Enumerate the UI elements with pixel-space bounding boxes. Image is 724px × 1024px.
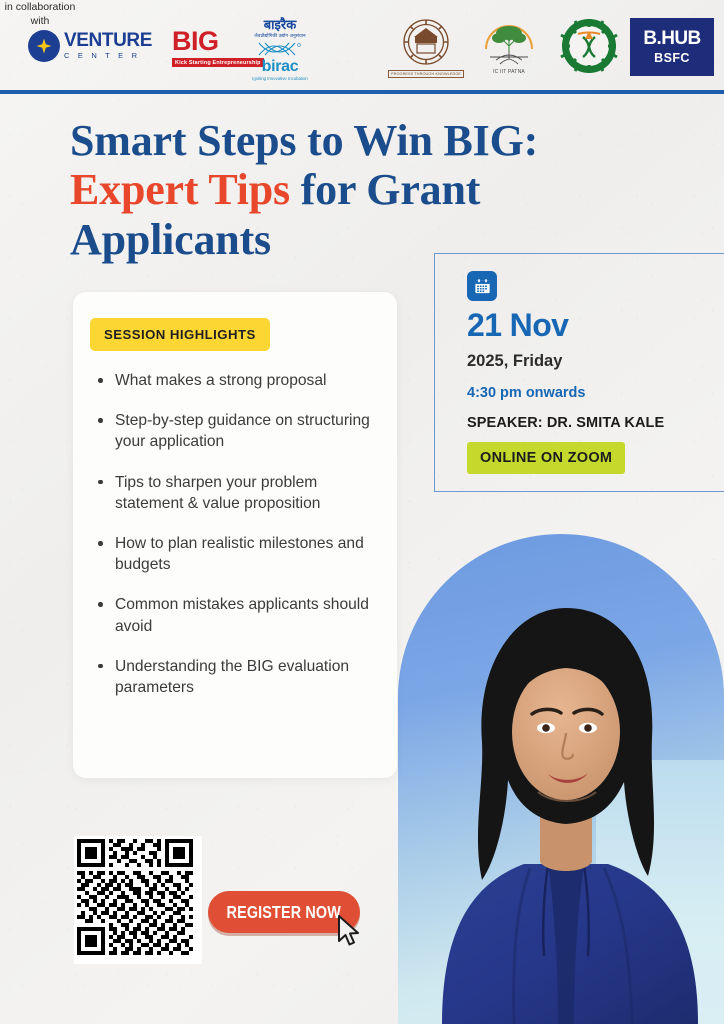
- event-year-day: 2025, Friday: [467, 352, 562, 371]
- bhub-wordmark: B.HUB: [643, 29, 700, 48]
- header-divider-rule: [0, 90, 724, 94]
- registration-qr-code[interactable]: [74, 836, 202, 964]
- venture-center-sub: C E N T E R: [64, 50, 152, 61]
- mouse-cursor-icon: [336, 914, 362, 948]
- birac-wordmark: birac: [262, 59, 299, 75]
- speaker-photo: [398, 546, 724, 1024]
- list-item: How to plan realistic milestones and bud…: [91, 533, 383, 575]
- partner-logo-strip: VENTURE C E N T E R BIG Kick Starting En…: [0, 0, 724, 92]
- event-speaker: SPEAKER: DR. SMITA KALE: [467, 415, 664, 431]
- event-date: 21 Nov: [467, 309, 568, 341]
- title-line-2-rest: for Grant: [290, 165, 480, 214]
- iitp-caption: IC IIT PATNA: [493, 69, 525, 75]
- poster-title: Smart Steps to Win BIG: Expert Tips for …: [70, 116, 590, 264]
- list-item: Common mistakes applicants should avoid: [91, 594, 383, 636]
- qr-code-glyph: [77, 839, 193, 955]
- speaker-portrait-illustration: [398, 546, 724, 1024]
- logo-venture-center: VENTURE C E N T E R: [28, 30, 152, 62]
- list-item: Tips to sharpen your problem statement &…: [91, 472, 383, 514]
- list-item: Understanding the BIG evaluation paramet…: [91, 656, 383, 698]
- venture-center-name: VENTURE: [64, 31, 152, 50]
- event-time: 4:30 pm onwards: [467, 385, 585, 401]
- session-highlights-card: SESSION HIGHLIGHTS What makes a strong p…: [73, 292, 397, 778]
- title-highlight: Expert Tips: [70, 165, 290, 214]
- gear-emblem-icon: [557, 17, 621, 75]
- event-mode-badge: ONLINE ON ZOOM: [467, 442, 625, 474]
- venture-center-icon: [28, 30, 60, 62]
- calendar-icon: [467, 271, 497, 301]
- list-item: Step-by-step guidance on structuring you…: [91, 410, 383, 452]
- aku-tagline: PROGRESS THROUGH KNOWLEDGE: [388, 70, 464, 78]
- logo-aryabhatta-university: PROGRESS THROUGH KNOWLEDGE: [392, 17, 460, 78]
- logo-ic-iit-patna: IC IIT PATNA: [476, 19, 542, 75]
- calendar-glyph: [473, 277, 492, 296]
- logo-government-emblem: [557, 17, 621, 75]
- title-line-3: Applicants: [70, 215, 271, 264]
- collaboration-label: in collaboration with: [0, 0, 80, 28]
- register-now-label: REGISTER NOW: [227, 902, 341, 923]
- dna-helix-icon: [257, 41, 303, 57]
- big-wordmark: BIG: [172, 28, 219, 55]
- event-details-panel: 21 Nov 2025, Friday 4:30 pm onwards SPEA…: [434, 253, 724, 492]
- session-highlights-badge: SESSION HIGHLIGHTS: [90, 318, 270, 351]
- logo-bhub-bsfc: B.HUB BSFC: [630, 18, 714, 76]
- title-line-1: Smart Steps to Win BIG:: [70, 116, 538, 165]
- university-crest-icon: [398, 17, 454, 69]
- list-item: What makes a strong proposal: [91, 370, 383, 391]
- logo-birac: बाइरैक जैवप्रौद्योगिकी उद्योग अनुसंधान b…: [250, 18, 310, 81]
- session-highlights-list: What makes a strong proposal Step-by-ste…: [91, 370, 383, 717]
- tree-roots-icon: [480, 19, 538, 71]
- birac-tagline: Igniting Innovative Incubation: [252, 76, 308, 81]
- bsfc-wordmark: BSFC: [654, 51, 690, 65]
- poster-canvas: VENTURE C E N T E R BIG Kick Starting En…: [0, 0, 724, 1024]
- birac-devanagari-sub: जैवप्रौद्योगिकी उद्योग अनुसंधान: [254, 33, 305, 39]
- birac-devanagari: बाइरैक: [264, 18, 296, 32]
